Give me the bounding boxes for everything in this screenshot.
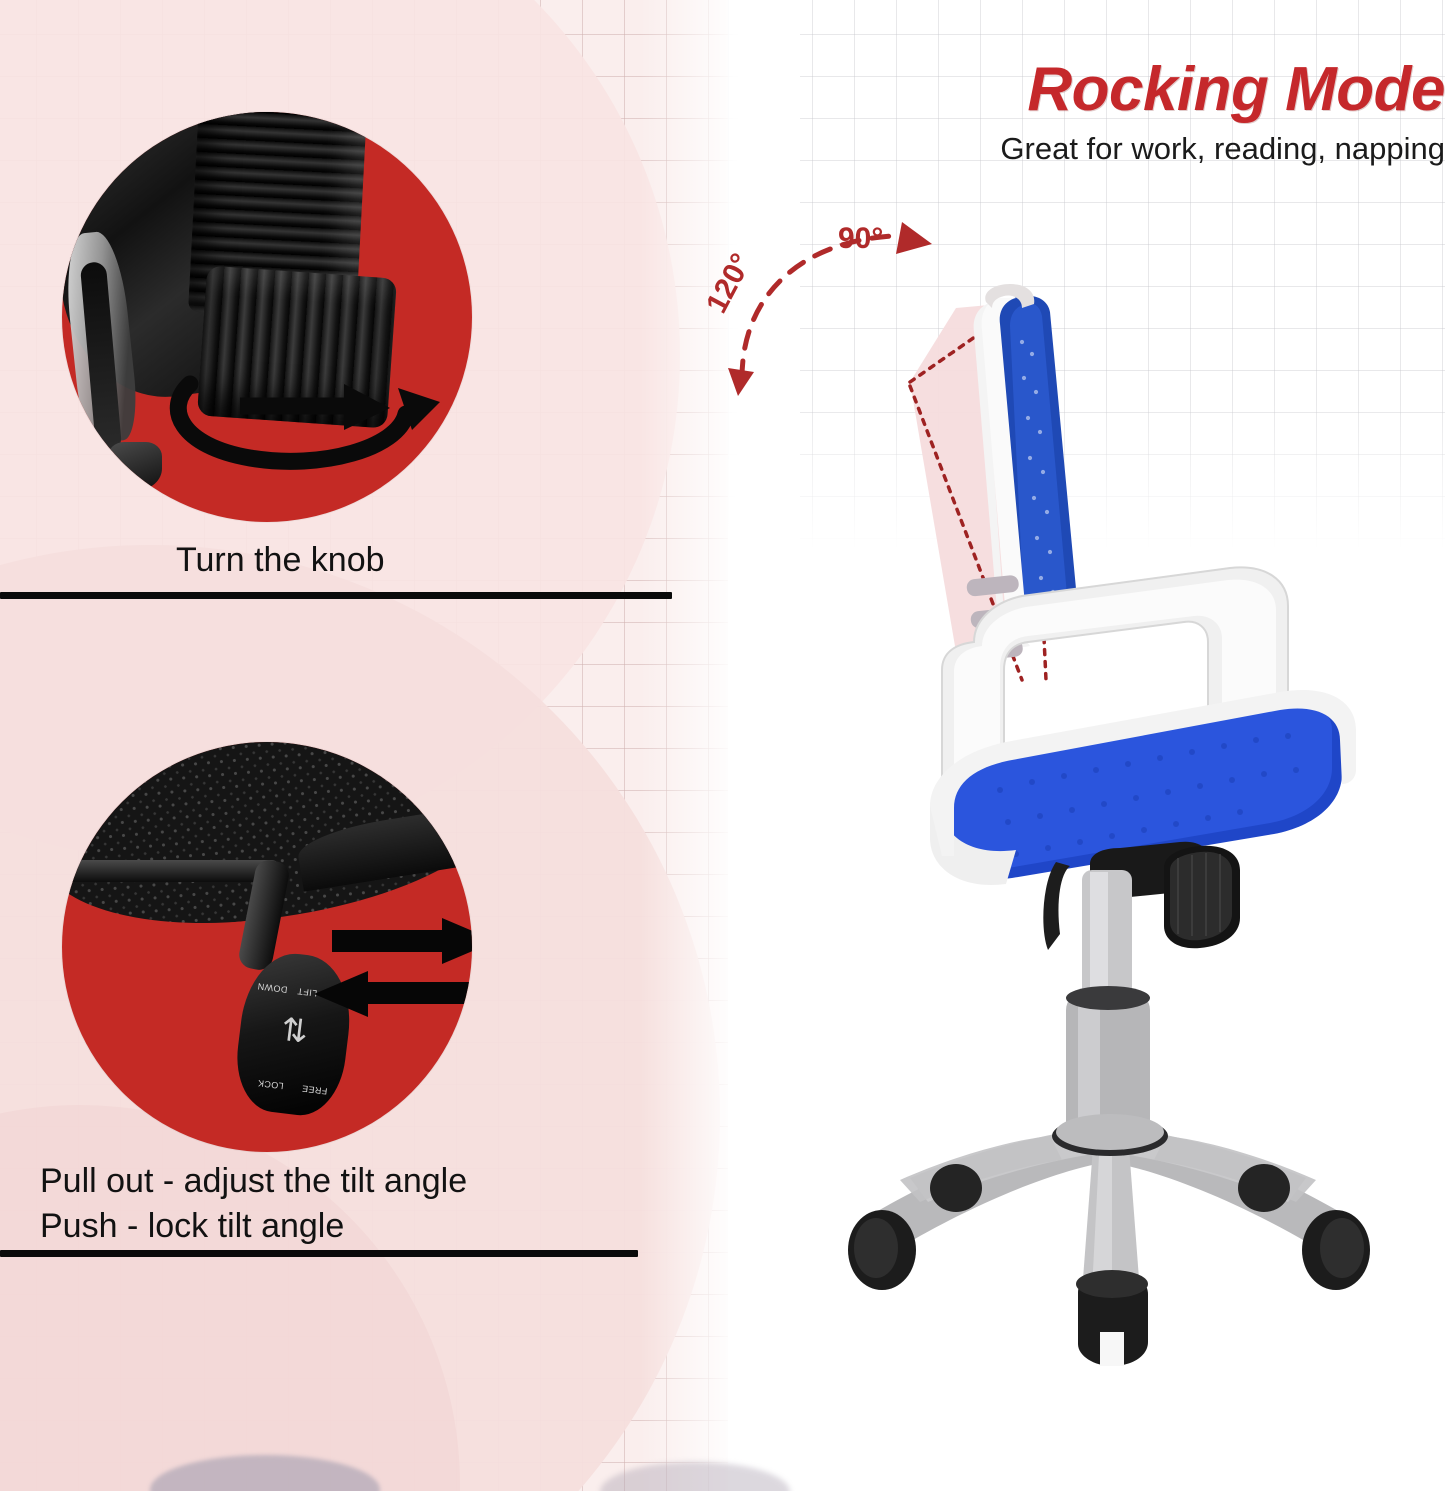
rotate-arrow-icon xyxy=(154,322,444,472)
detail-circle-knob xyxy=(62,112,472,522)
product-infographic: Rocking Mode Great for work, reading, na… xyxy=(0,0,1445,1491)
caption-push-lock: Push - lock tilt angle xyxy=(40,1205,344,1248)
arrow-head-120 xyxy=(728,368,754,396)
divider-upper xyxy=(0,592,672,599)
tilt-lever-arm xyxy=(62,860,282,882)
page-subtitle: Great for work, reading, napping xyxy=(745,132,1445,166)
heading-block: Rocking Mode Great for work, reading, na… xyxy=(745,58,1445,166)
divider-lower xyxy=(0,1250,638,1257)
lever-label-free: FREE xyxy=(301,1083,328,1096)
caption-turn-knob: Turn the knob xyxy=(176,539,385,582)
page-title: Rocking Mode xyxy=(745,58,1445,122)
left-right-arrows-icon xyxy=(310,918,472,1030)
lever-label-down: DOWN xyxy=(257,981,288,995)
lever-label-lock: LOCK xyxy=(257,1078,284,1091)
caption-pull-out: Pull out - adjust the tilt angle xyxy=(40,1160,467,1203)
office-chair-illustration xyxy=(760,250,1420,1370)
detail-circle-tilt-lever: FREE LOCK UP LIFT DOWN ⇅ xyxy=(62,742,472,1152)
